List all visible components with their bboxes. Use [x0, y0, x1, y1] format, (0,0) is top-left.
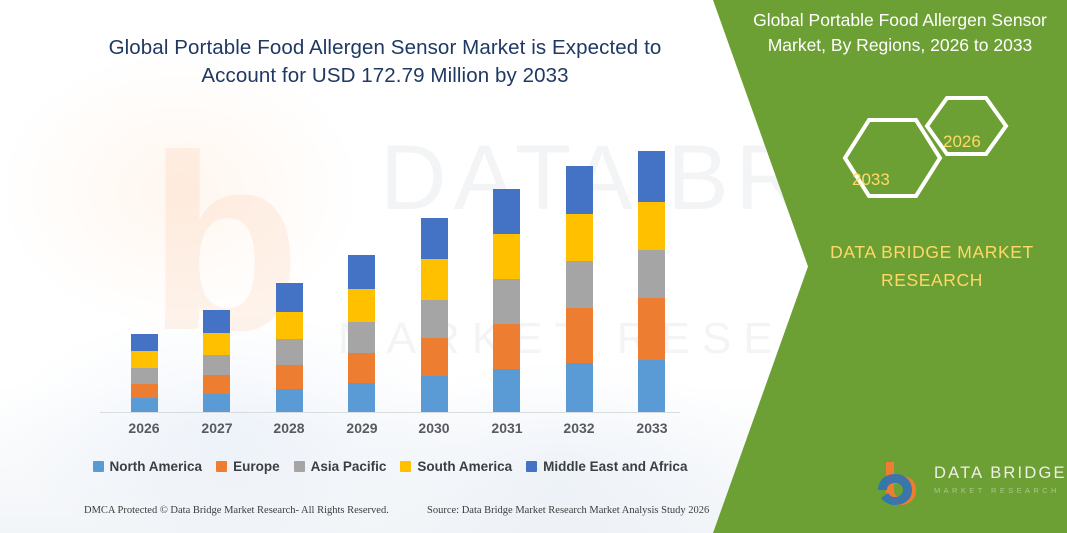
company-logo: DATA BRIDGE MARKET RESEARCH [876, 458, 1061, 510]
bar-segment-2030-south-america [421, 259, 448, 300]
footer-source: Source: Data Bridge Market Research Mark… [427, 505, 709, 516]
bar-segment-2027-asia-pacific [203, 355, 230, 375]
bar-segment-2026-middle-east-and-africa [131, 334, 158, 351]
bar-segment-2033-north-america [638, 360, 665, 412]
logo-text: DATA BRIDGE MARKET RESEARCH [934, 464, 1067, 495]
logo-name: DATA BRIDGE [934, 464, 1067, 483]
legend-swatch-icon [216, 461, 227, 472]
legend-label: Europe [233, 459, 280, 474]
x-tick-2033: 2033 [623, 420, 681, 436]
panel-brand-line2: RESEARCH [881, 270, 983, 290]
legend-swatch-icon [294, 461, 305, 472]
x-tick-2031: 2031 [478, 420, 536, 436]
footer: DMCA Protected © Data Bridge Market Rese… [0, 505, 713, 527]
hexagon-group: 2026 2033 [820, 92, 1040, 210]
bar-2033 [638, 151, 665, 412]
x-tick-2029: 2029 [333, 420, 391, 436]
bar-segment-2030-europe [421, 338, 448, 376]
bar-segment-2033-south-america [638, 202, 665, 250]
bar-segment-2032-north-america [566, 363, 593, 412]
panel-brand-line1: DATA BRIDGE MARKET [830, 242, 1034, 262]
bar-segment-2031-europe [493, 324, 520, 369]
bar-segment-2027-south-america [203, 333, 230, 355]
bar-segment-2033-europe [638, 298, 665, 360]
bar-segment-2029-south-america [348, 289, 375, 322]
bar-segment-2031-north-america [493, 369, 520, 412]
bar-segment-2026-asia-pacific [131, 368, 158, 384]
bar-segment-2029-europe [348, 353, 375, 383]
panel-title: Global Portable Food Allergen Sensor Mar… [742, 8, 1058, 58]
bar-segment-2028-asia-pacific [276, 339, 303, 365]
bar-segment-2033-asia-pacific [638, 250, 665, 298]
bar-segment-2031-asia-pacific [493, 279, 520, 324]
x-axis-labels: 20262027202820292030203120322033 [100, 420, 680, 442]
bar-segment-2029-middle-east-and-africa [348, 255, 375, 289]
chart-title: Global Portable Food Allergen Sensor Mar… [96, 34, 674, 90]
bar-segment-2026-north-america [131, 398, 158, 412]
bar-2028 [276, 283, 303, 412]
legend-item-asia-pacific[interactable]: Asia Pacific [294, 459, 387, 474]
hexagon-label-2026: 2026 [943, 132, 981, 152]
bar-segment-2032-middle-east-and-africa [566, 166, 593, 214]
bar-segment-2032-asia-pacific [566, 261, 593, 308]
x-tick-2028: 2028 [260, 420, 318, 436]
bar-segment-2029-asia-pacific [348, 322, 375, 353]
chart-legend: North AmericaEuropeAsia PacificSouth Ame… [100, 455, 680, 477]
legend-swatch-icon [93, 461, 104, 472]
logo-mark-icon [876, 460, 928, 506]
bar-segment-2027-europe [203, 375, 230, 394]
bar-segment-2030-middle-east-and-africa [421, 218, 448, 259]
bar-segment-2032-europe [566, 308, 593, 363]
bar-segment-2028-south-america [276, 312, 303, 339]
bar-segment-2030-asia-pacific [421, 300, 448, 338]
bar-segment-2032-south-america [566, 214, 593, 261]
legend-label: North America [110, 459, 203, 474]
legend-item-north-america[interactable]: North America [93, 459, 203, 474]
bar-segment-2027-north-america [203, 394, 230, 412]
bar-2027 [203, 310, 230, 412]
x-tick-2027: 2027 [188, 420, 246, 436]
legend-label: Asia Pacific [311, 459, 387, 474]
hexagon-label-2033: 2033 [852, 170, 890, 190]
bar-segment-2028-europe [276, 365, 303, 389]
bar-segment-2027-middle-east-and-africa [203, 310, 230, 333]
legend-item-south-america[interactable]: South America [400, 459, 512, 474]
x-tick-2030: 2030 [405, 420, 463, 436]
x-tick-2032: 2032 [550, 420, 608, 436]
bar-segment-2031-middle-east-and-africa [493, 189, 520, 234]
bar-2031 [493, 189, 520, 412]
bar-segment-2033-middle-east-and-africa [638, 151, 665, 202]
legend-swatch-icon [526, 461, 537, 472]
infographic-canvas: b DATA BRIDGE MARKET RESEARCH Global Por… [0, 0, 1067, 533]
bar-2026 [131, 334, 158, 412]
bar-segment-2030-north-america [421, 376, 448, 412]
bar-2030 [421, 218, 448, 412]
chart-baseline [100, 412, 680, 413]
stacked-bar-chart [100, 120, 680, 413]
panel-brand: DATA BRIDGE MARKET RESEARCH [812, 238, 1052, 294]
bar-segment-2026-europe [131, 384, 158, 398]
legend-label: Middle East and Africa [543, 459, 687, 474]
footer-copyright: DMCA Protected © Data Bridge Market Rese… [84, 505, 389, 516]
bar-segment-2031-south-america [493, 234, 520, 279]
bar-2032 [566, 166, 593, 412]
logo-subtitle: MARKET RESEARCH [934, 486, 1067, 495]
bar-segment-2028-north-america [276, 389, 303, 412]
x-tick-2026: 2026 [115, 420, 173, 436]
legend-label: South America [417, 459, 512, 474]
legend-item-middle-east-and-africa[interactable]: Middle East and Africa [526, 459, 687, 474]
bar-segment-2029-north-america [348, 383, 375, 412]
legend-swatch-icon [400, 461, 411, 472]
bar-2029 [348, 255, 375, 412]
legend-item-europe[interactable]: Europe [216, 459, 280, 474]
bar-segment-2028-middle-east-and-africa [276, 283, 303, 312]
bar-segment-2026-south-america [131, 351, 158, 368]
